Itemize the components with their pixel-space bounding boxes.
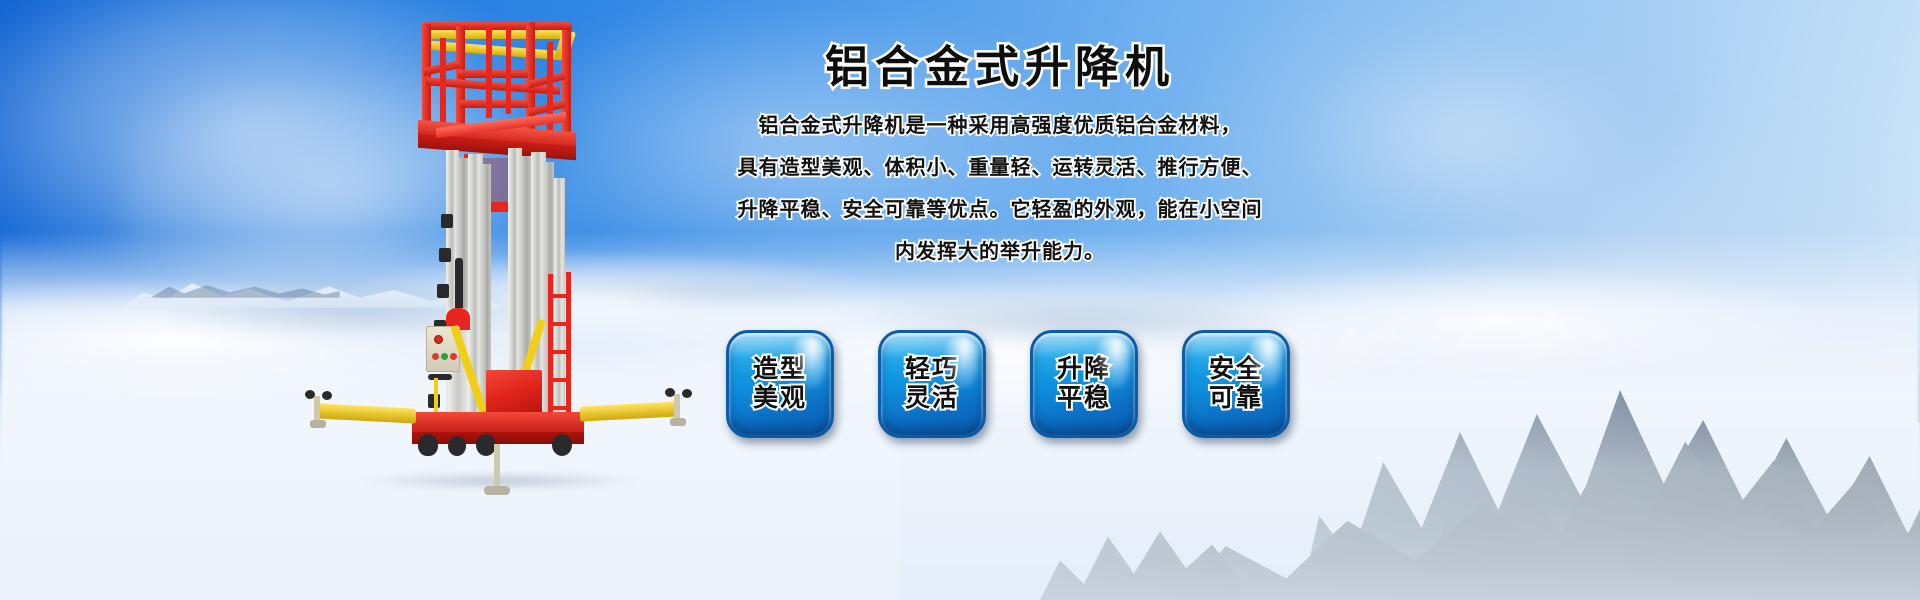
center-jack-post <box>494 444 500 490</box>
mast-col-9 <box>554 178 565 422</box>
product-banner: 铝合金式升降机 铝合金式升降机是一种采用高强度优质铝合金材料， 具有造型美观、体… <box>0 0 1920 600</box>
outrigger-post-left <box>314 396 320 422</box>
wheel-rear-right <box>552 434 572 456</box>
feature-badge-safety[interactable]: 安全 可靠 <box>1182 330 1290 438</box>
feature-badge-line-1: 轻巧 <box>905 355 959 384</box>
feature-badge-line-1: 安全 <box>1209 355 1263 384</box>
description-line-3: 升降平稳、安全可靠等优点。它轻盈的外观，能在小空间 <box>700 200 1300 220</box>
ladder-rung-2 <box>549 322 568 326</box>
outrigger-beam-left <box>316 403 416 423</box>
mast-joint-2 <box>439 248 451 262</box>
outrigger-knob-left-b <box>322 391 332 400</box>
feature-badge-list: 造型 美观 轻巧 灵活 升降 平稳 安全 可靠 <box>726 330 1290 438</box>
description-line-2: 具有造型美观、体积小、重量轻、运转灵活、推行方便、 <box>700 158 1300 178</box>
feature-badge-line-1: 升降 <box>1057 355 1111 384</box>
description-line-1: 铝合金式升降机是一种采用高强度优质铝合金材料， <box>700 116 1300 136</box>
feature-badge-smooth-lift[interactable]: 升降 平稳 <box>1030 330 1138 438</box>
platform-picket-2 <box>506 26 511 114</box>
aluminum-lift-machine <box>300 8 700 488</box>
indicator-red <box>432 353 439 360</box>
emergency-stop-button[interactable] <box>434 335 443 344</box>
ladder-rung-4 <box>549 378 568 382</box>
platform-lower-rail-back <box>460 100 528 108</box>
outrigger-knob-left-a <box>305 390 315 399</box>
outrigger-beam-right <box>580 401 680 421</box>
outrigger-knob-right-a <box>665 388 675 397</box>
indicator-red-2 <box>450 353 457 360</box>
indicator-green <box>441 353 448 360</box>
platform-top-rail-back <box>422 22 572 30</box>
feature-badge-line-2: 美观 <box>753 384 807 413</box>
wheel-mid-left <box>448 436 466 456</box>
wheel-front-left <box>418 434 438 456</box>
chassis-base <box>412 412 584 434</box>
description-line-4: 内发挥大的举升能力。 <box>700 242 1300 262</box>
feature-badge-line-2: 平稳 <box>1057 384 1111 413</box>
ladder-rung-5 <box>549 406 568 410</box>
feature-badge-appearance[interactable]: 造型 美观 <box>726 330 834 438</box>
outrigger-foot-right <box>670 418 686 426</box>
ladder-rung-1 <box>549 294 568 298</box>
platform-post-back-left <box>456 26 465 130</box>
platform-picket-1 <box>486 26 492 118</box>
page-title: 铝合金式升降机 <box>700 46 1300 90</box>
description-block: 铝合金式升降机是一种采用高强度优质铝合金材料， 具有造型美观、体积小、重量轻、运… <box>700 116 1300 262</box>
feature-badge-line-1: 造型 <box>753 355 807 384</box>
banner-copy-block: 铝合金式升降机 铝合金式升降机是一种采用高强度优质铝合金材料， 具有造型美观、体… <box>700 46 1300 262</box>
mast-joint-1 <box>441 214 453 228</box>
center-jack-foot <box>484 486 510 495</box>
outrigger-knob-right-b <box>682 389 692 398</box>
counterweight-block <box>486 370 542 416</box>
outrigger-foot-left <box>310 420 326 428</box>
feature-badge-line-2: 灵活 <box>905 384 959 413</box>
feature-badge-lightweight[interactable]: 轻巧 灵活 <box>878 330 986 438</box>
platform-yellow-rail-front <box>426 40 566 60</box>
platform-mid-rail-back <box>458 70 528 78</box>
platform-picket-4 <box>440 38 446 134</box>
outrigger-post-right <box>674 394 680 420</box>
control-handle[interactable] <box>428 374 452 380</box>
platform-yellow-rail-back <box>426 30 566 39</box>
feature-badge-line-2: 可靠 <box>1209 384 1263 413</box>
ladder-rung-3 <box>549 350 568 354</box>
wheel-mid <box>476 434 496 456</box>
mast-joint-3 <box>437 284 449 298</box>
